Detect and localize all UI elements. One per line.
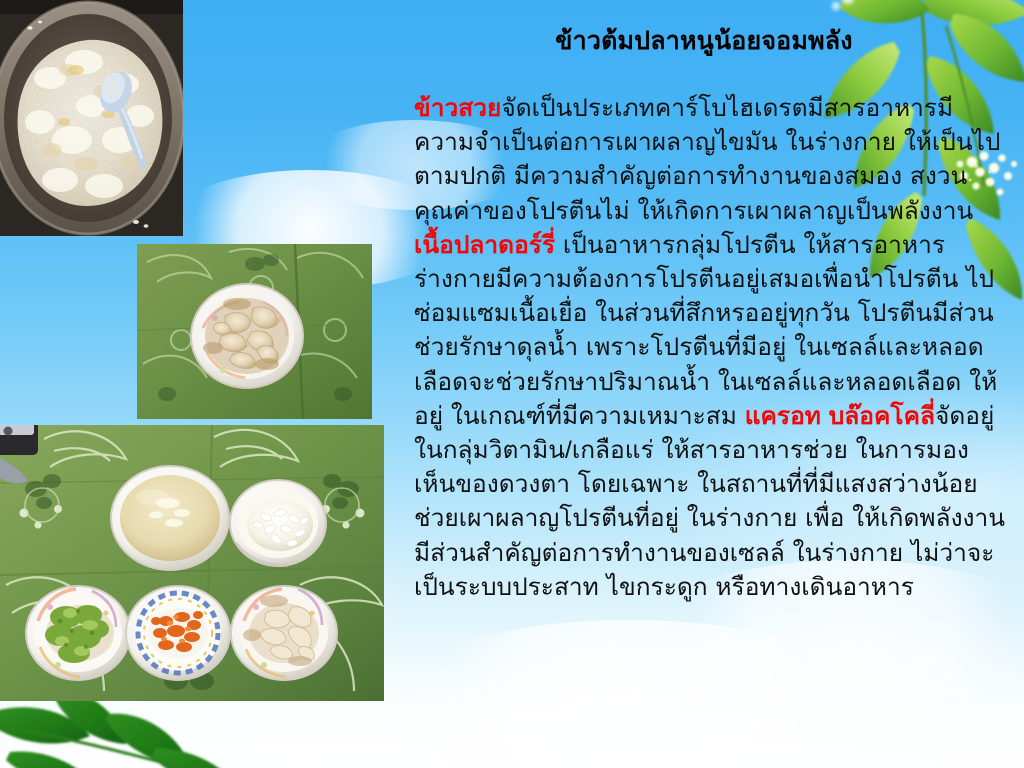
bowl-carrot: [126, 586, 230, 680]
paragraph-fish: เป็นอาหารกลุ่มโปรตีน ให้สารอาหารร่างกายม…: [414, 232, 997, 430]
bowl-fish: [231, 586, 337, 680]
body-text-block: ข้าวสวยจัดเป็นประเภทคาร์โบไฮเดรตมีสารอาห…: [414, 92, 1009, 605]
paragraph-vegetable: จัดอยู่ ในกลุ่มวิตามิน/เกลือแร่ ให้สารอา…: [414, 403, 1005, 601]
presentation-slide: ข้าวต้มปลาหนูน้อยจอมพลัง ข้าวสวยจัดเป็นป…: [0, 0, 1024, 768]
cloud-decoration: [380, 620, 880, 768]
photo-ingredient-bowls: [0, 425, 384, 701]
highlight-term-vegetable: แครอท บล๊อคโคลี่: [745, 403, 935, 430]
highlight-term-fish: เนื้อปลาดอร์รี่: [414, 232, 555, 259]
paragraph-rice: จัดเป็นประเภทคาร์โบไฮเดรตมีสารอาหารมีควา…: [414, 95, 1000, 225]
bowl-rice: [230, 480, 326, 566]
photo-rice-pot: [0, 0, 183, 236]
page-title: ข้าวต้มปลาหนูน้อยจอมพลัง: [404, 26, 1004, 57]
bowl-broth: [111, 466, 229, 570]
photo-fish-bowl: [137, 244, 372, 419]
bowl-broccoli: [26, 586, 130, 680]
highlight-term-rice: ข้าวสวย: [414, 95, 501, 122]
